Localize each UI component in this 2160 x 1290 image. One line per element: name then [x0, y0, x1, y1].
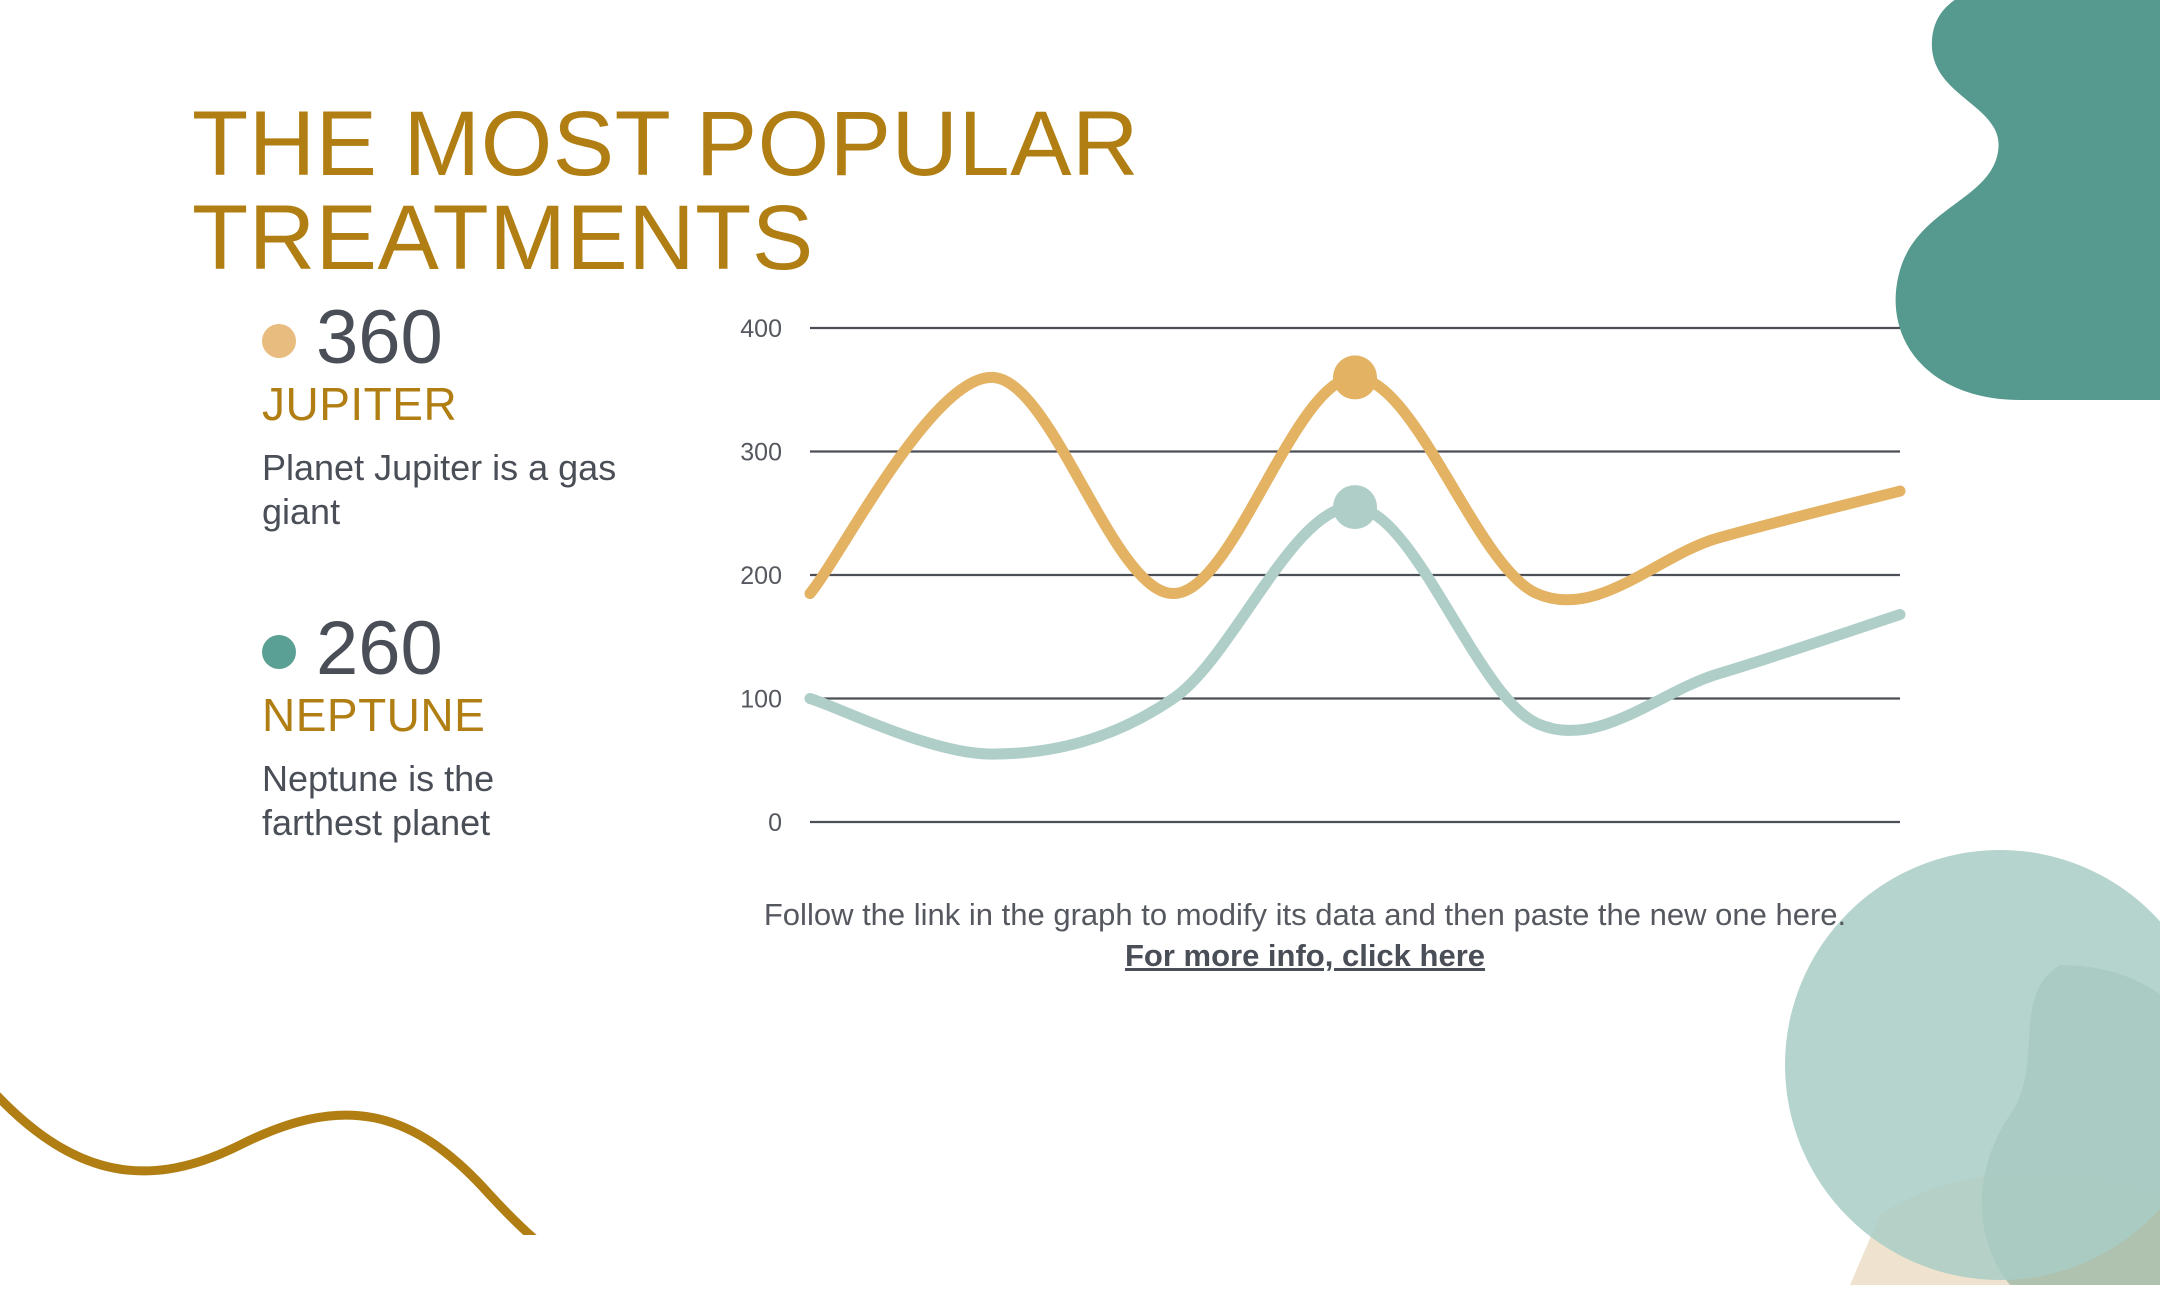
stat-value-neptune: 260: [316, 611, 443, 687]
chart-marker-jupiter[interactable]: [1333, 355, 1377, 399]
chart-y-tick-label: 100: [740, 686, 782, 714]
chart-y-tick-label: 400: [740, 315, 782, 343]
stat-headline-jupiter: 360: [262, 300, 642, 376]
decorative-teal-blob-icon: [1870, 0, 2160, 400]
stat-block-jupiter: 360 JUPITER Planet Jupiter is a gas gian…: [262, 300, 642, 533]
decorative-gold-wave-icon: [0, 1035, 630, 1235]
chart-y-axis-labels: 4003002001000: [740, 315, 782, 837]
stat-block-neptune: 260 NEPTUNE Neptune is the farthest plan…: [262, 611, 642, 844]
chart-y-tick-label: 300: [740, 439, 782, 467]
stat-headline-neptune: 260: [262, 611, 642, 687]
chart-caption-link[interactable]: For more info, click here: [1125, 938, 1485, 973]
bullet-dot-icon-neptune: [262, 635, 296, 669]
page-title: THE MOST POPULAR TREATMENTS: [192, 98, 1372, 286]
chart-y-tick-label: 0: [768, 809, 782, 837]
stat-value-jupiter: 360: [316, 300, 443, 376]
stat-label-jupiter: JUPITER: [262, 380, 642, 430]
chart-caption-text-2: new one here.: [1650, 897, 1846, 932]
chart-caption-text-1: Follow the link in the graph to modify i…: [764, 897, 1650, 932]
chart-line-neptune: [810, 507, 1900, 754]
line-chart[interactable]: 4003002001000: [700, 320, 1900, 830]
chart-data-point-markers: [1333, 355, 1377, 529]
chart-y-tick-label: 200: [740, 562, 782, 590]
stats-column: 360 JUPITER Planet Jupiter is a gas gian…: [262, 300, 642, 923]
stat-description-jupiter: Planet Jupiter is a gas giant: [262, 446, 622, 534]
bullet-dot-icon-jupiter: [262, 324, 296, 358]
slide-canvas: THE MOST POPULAR TREATMENTS 360 JUPITER …: [0, 0, 2160, 1215]
chart-caption: Follow the link in the graph to modify i…: [760, 895, 1850, 977]
stat-description-neptune: Neptune is the farthest planet: [262, 757, 622, 845]
stat-label-neptune: NEPTUNE: [262, 691, 642, 741]
chart-marker-neptune[interactable]: [1333, 485, 1377, 529]
